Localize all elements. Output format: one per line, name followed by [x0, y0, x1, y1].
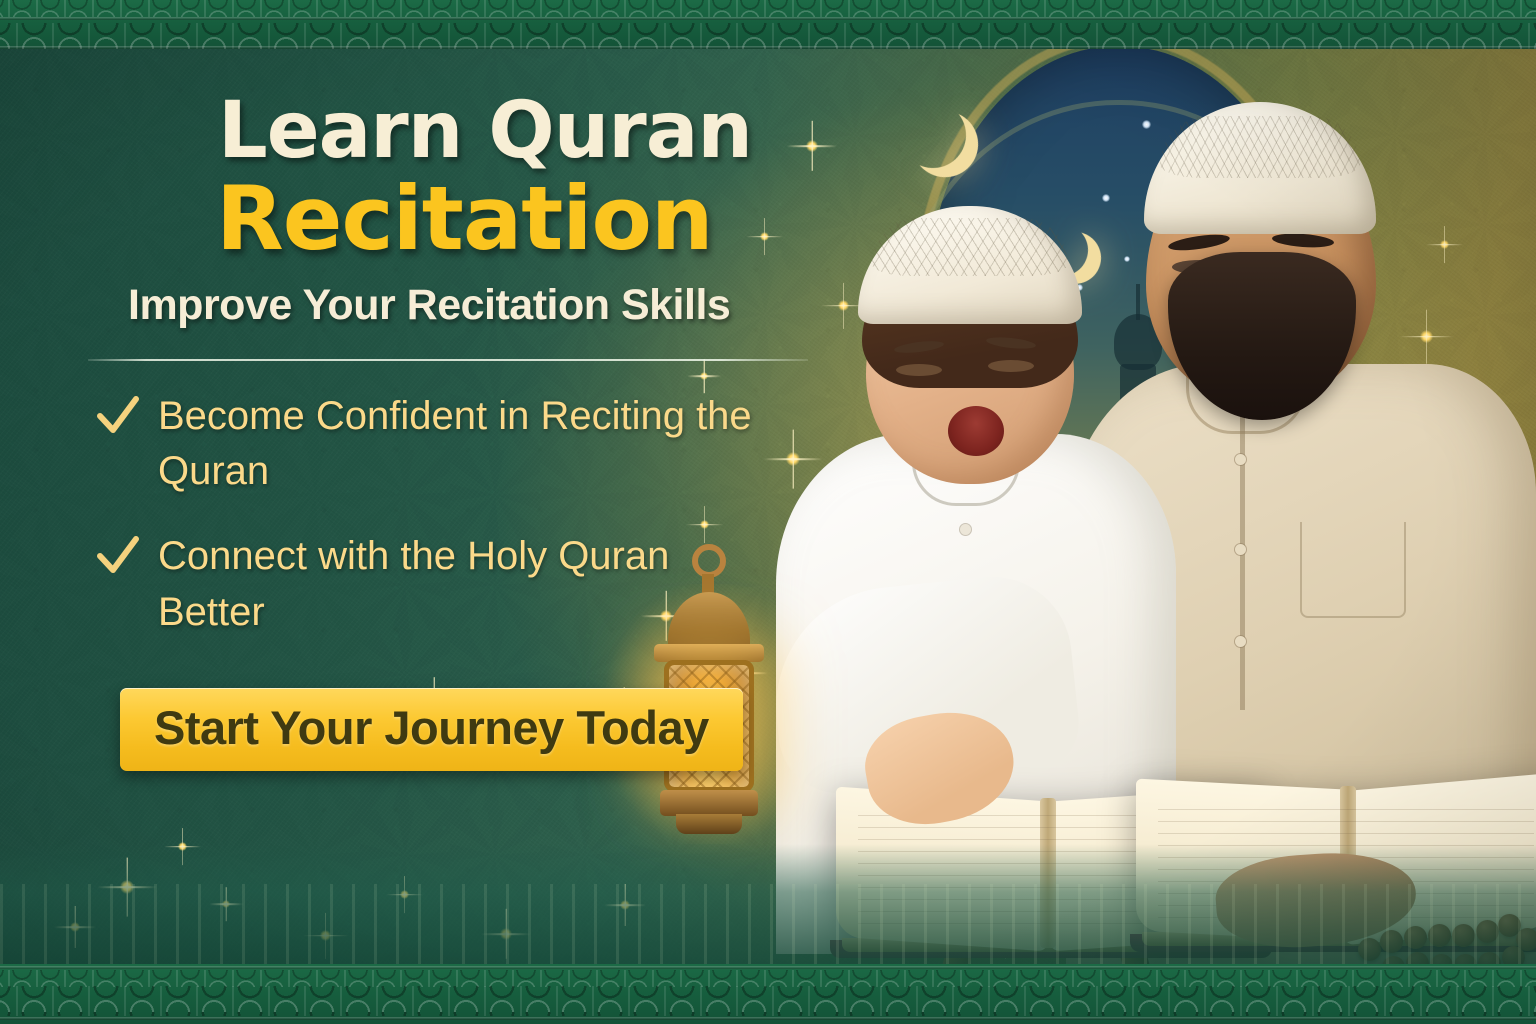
check-icon	[96, 393, 140, 439]
man-button	[1235, 544, 1246, 555]
illustration-scene	[716, 24, 1536, 964]
ornament-rule	[0, 46, 1536, 49]
list-item: Become Confident in Reciting the Quran	[96, 389, 818, 499]
headline-primary: Learn Quran	[218, 92, 818, 170]
ornament-rule	[0, 1017, 1536, 1020]
boy-eye	[988, 360, 1034, 372]
boy-taqiyah-cap	[858, 206, 1082, 324]
ornament-border-bottom	[0, 964, 1536, 1024]
check-icon	[96, 533, 140, 579]
ornament-band	[0, 970, 1536, 987]
ornament-band	[0, 986, 1536, 1016]
ornament-rule	[0, 17, 1536, 20]
benefit-label: Connect with the Holy Quran Better	[158, 529, 758, 639]
benefit-label: Become Confident in Reciting the Quran	[158, 389, 758, 499]
ornament-border-top	[0, 0, 1536, 49]
boy-open-mouth	[948, 406, 1004, 456]
subheadline: Improve Your Recitation Skills	[128, 282, 818, 329]
ornament-rule	[0, 966, 1536, 969]
boy-eye	[896, 364, 942, 376]
banner-content: Learn Quran Recitation Improve Your Reci…	[88, 92, 818, 771]
man-taqiyah-cap	[1144, 102, 1376, 234]
ornament-band	[0, 0, 1536, 17]
man-pocket	[1300, 522, 1406, 618]
lantern-base	[660, 790, 758, 816]
start-journey-button[interactable]: Start Your Journey Today	[120, 688, 743, 771]
man-button	[1235, 636, 1246, 647]
benefit-list: Become Confident in Reciting the Quran C…	[96, 389, 818, 640]
man-button	[1235, 454, 1246, 465]
headline-accent: Recitation	[216, 174, 818, 264]
lantern-foot	[676, 814, 742, 834]
list-item: Connect with the Holy Quran Better	[96, 529, 818, 639]
prayer-mat	[0, 844, 1536, 964]
quran-recitation-banner: Learn Quran Recitation Improve Your Reci…	[0, 0, 1536, 1024]
boy-button	[960, 524, 971, 535]
divider-rule	[88, 359, 808, 361]
